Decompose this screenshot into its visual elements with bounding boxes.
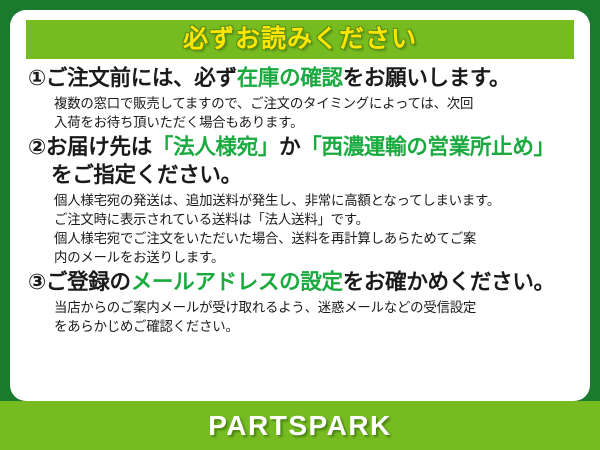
notice-item-2: ②お届け先は「法人様宛」か「西濃運輸の営業所止め」 をご指定ください。 個人様宅… <box>28 134 572 267</box>
notice-item-3: ③ご登録のメールアドレスの設定をお確かめください。 当店からのご案内メールが受け… <box>28 269 572 336</box>
notice-item-1-heading-part-1: ご注文前には、必ず <box>46 66 237 90</box>
notice-item-2-heading-part-1: お届け先は <box>46 135 152 159</box>
notice-item-2-marker: ② <box>28 135 46 159</box>
notice-item-2-heading-highlight-1: 「法人様宛」 <box>152 135 279 159</box>
notice-frame: 必ずお読みください ①ご注文前には、必ず在庫の確認をお願いします。 複数の窓口で… <box>0 0 600 450</box>
brand-logo: PARTSPARK <box>208 412 392 440</box>
notice-item-1-heading-highlight: 在庫の確認 <box>237 66 343 90</box>
notice-item-3-note: 当店からのご案内メールが受け取れるよう、迷惑メールなどの受信設定 をあらかじめご… <box>28 298 572 336</box>
notice-item-3-note-line-2: をあらかじめご確認ください。 <box>54 317 572 336</box>
notice-item-3-heading-part-3: をお確かめください。 <box>343 270 555 294</box>
notice-item-3-heading-highlight: メールアドレスの設定 <box>131 270 343 294</box>
notice-item-3-heading-part-1: ご登録の <box>46 270 131 294</box>
notice-item-2-heading-part-3: か <box>279 135 300 159</box>
notice-item-2-heading-line-2: をご指定ください。 <box>28 162 572 190</box>
notice-item-3-marker: ③ <box>28 270 46 294</box>
notice-item-1-heading-part-3: をお願いします。 <box>343 66 510 90</box>
footer-bar: PARTSPARK <box>0 401 600 450</box>
notice-item-3-heading: ③ご登録のメールアドレスの設定をお確かめください。 <box>28 269 572 297</box>
notice-item-2-note-line-1: 個人様宅宛の発送は、追加送料が発生し、非常に高額となってしまいます。 <box>54 191 572 210</box>
page-title: 必ずお読みください <box>183 27 417 52</box>
notice-item-1: ①ご注文前には、必ず在庫の確認をお願いします。 複数の窓口で販売してますので、ご… <box>28 65 572 132</box>
notice-item-2-note-line-3: 個人様宅宛でご注文をいただいた場合、送料を再計算しあらためてご案 <box>54 229 572 248</box>
notice-item-2-note: 個人様宅宛の発送は、追加送料が発生し、非常に高額となってしまいます。 ご注文時に… <box>28 191 572 267</box>
notice-item-1-heading: ①ご注文前には、必ず在庫の確認をお願いします。 <box>28 65 572 93</box>
notice-item-1-note: 複数の窓口で販売してますので、ご注文のタイミングによっては、次回 入荷をお待ち頂… <box>28 94 572 132</box>
notice-item-2-note-line-4: 内のメールをお送りします。 <box>54 248 572 267</box>
notice-list: ①ご注文前には、必ず在庫の確認をお願いします。 複数の窓口で販売してますので、ご… <box>26 65 574 336</box>
notice-card: 必ずお読みください ①ご注文前には、必ず在庫の確認をお願いします。 複数の窓口で… <box>10 10 590 401</box>
notice-item-2-note-line-2: ご注文時に表示されている送料は「法人送料」です。 <box>54 210 572 229</box>
notice-item-1-note-line-2: 入荷をお待ち頂いただく場合もあります。 <box>54 113 572 132</box>
notice-item-2-heading: ②お届け先は「法人様宛」か「西濃運輸の営業所止め」 <box>28 134 572 162</box>
notice-item-2-heading-highlight-2: 「西濃運輸の営業所止め」 <box>300 135 554 159</box>
header-banner: 必ずお読みください <box>26 20 574 59</box>
notice-item-3-note-line-1: 当店からのご案内メールが受け取れるよう、迷惑メールなどの受信設定 <box>54 298 572 317</box>
notice-item-1-note-line-1: 複数の窓口で販売してますので、ご注文のタイミングによっては、次回 <box>54 94 572 113</box>
notice-item-1-marker: ① <box>28 66 46 90</box>
